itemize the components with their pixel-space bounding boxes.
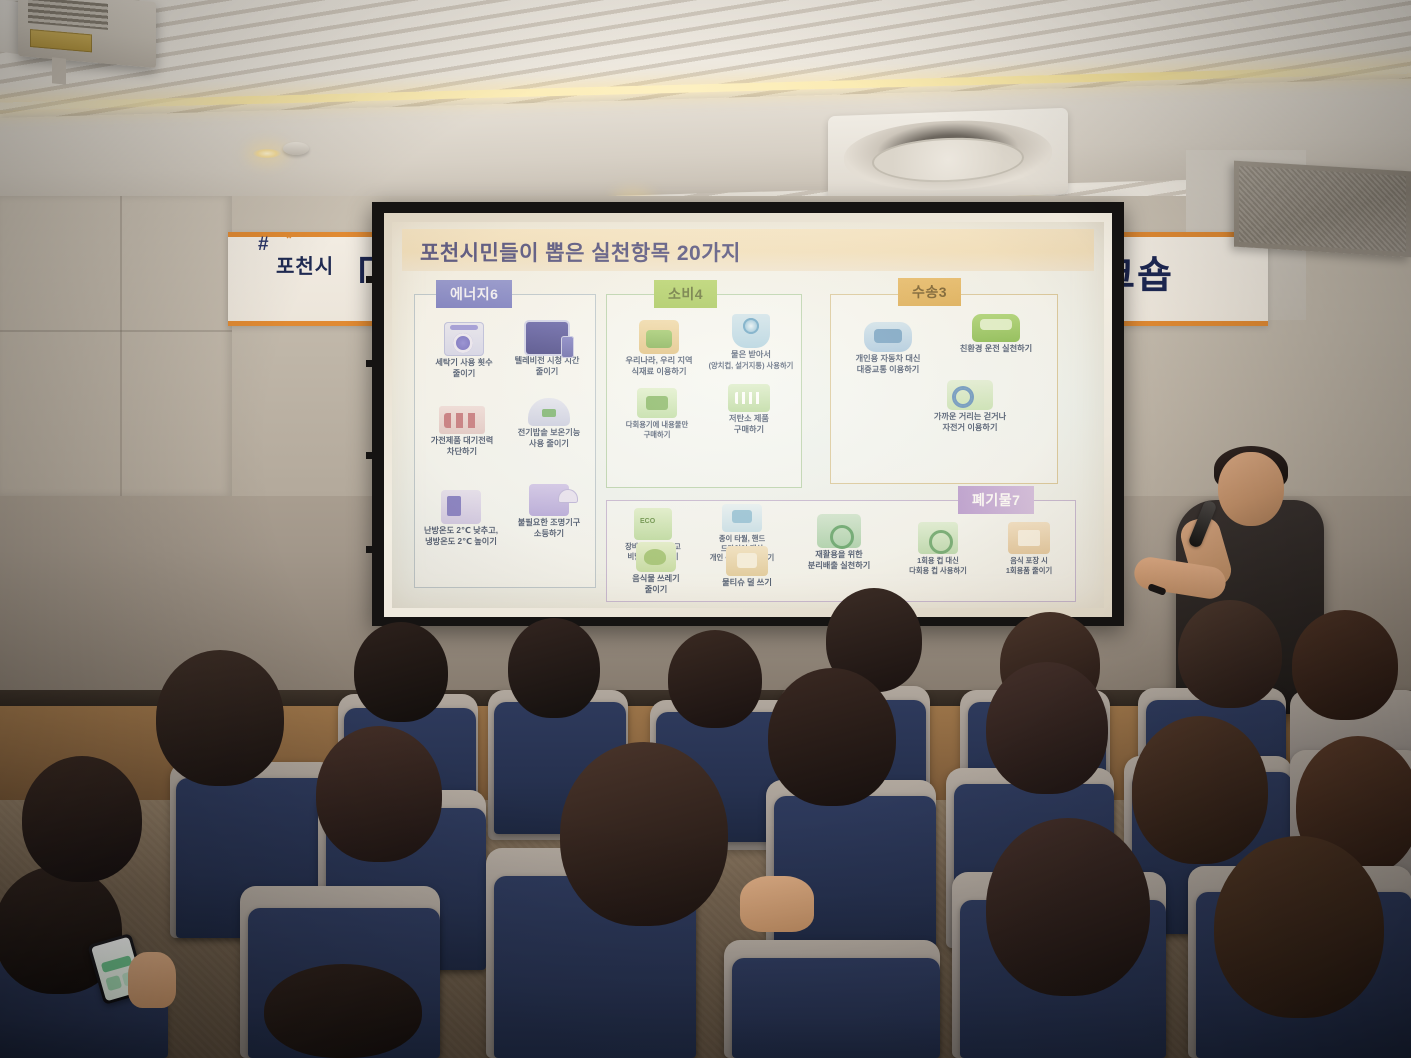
presentation-slide: 포천시민들이 뽑은 실천항목 20가지 에너지6 세탁기 사용 횟수 줄이기 텔… [392,222,1104,608]
projection-screen-surface: 포천시민들이 뽑은 실천항목 20가지 에너지6 세탁기 사용 횟수 줄이기 텔… [384,213,1112,617]
screen-bracket [366,546,382,553]
attendee-head [156,650,284,786]
slide-item: 음식 포장 시 1회용품 줄이기 [986,522,1072,575]
local-produce-icon [639,320,679,354]
attendee-head [1292,610,1398,720]
attendee-head [1214,836,1384,1018]
slide-item: 전기밥솥 보온기능 사용 줄이기 [506,398,592,450]
slide-item-caption: 텔레비전 시청 시간 줄이기 [504,356,590,378]
wall-seam [0,330,232,332]
slide-item: 1회용 컵 대신 다회용 컵 사용하기 [892,522,984,575]
power-strip-icon [439,406,485,434]
attendee-head [22,756,142,882]
thermostat-icon [441,490,481,524]
attendee-head [668,630,762,728]
slide-item: 재활용을 위한 분리배출 실천하기 [792,514,886,572]
food-packaging-icon [1008,522,1050,554]
rice-cooker-icon [528,398,570,426]
screen-bracket [366,360,382,367]
slide-item-caption: 다회용기에 내용물만 구매하기 [612,420,702,439]
slide-item-caption-sub: (양치컵, 설거지통) 사용하기 [704,361,798,371]
slide-item-caption: 가까운 거리는 걷거나 자전거 이용하기 [916,412,1024,434]
slide-item: 불필요한 조명기구 소등하기 [506,484,592,540]
lamp-icon [529,484,569,516]
section-badge-energy: 에너지6 [436,280,512,308]
food-waste-icon [636,542,676,572]
wet-wipe-icon [726,546,768,576]
attendee-head [560,742,728,926]
attendee-vest [732,958,940,1058]
attendee-head [316,726,442,862]
slide-item: 텔레비전 시청 시간 줄이기 [504,322,590,378]
slide-item-caption: 전기밥솥 보온기능 사용 줄이기 [506,428,592,450]
slide-item-caption: 세탁기 사용 횟수 줄이기 [422,358,506,380]
water-basin-icon [732,314,770,348]
slide-item: 다회용기에 내용물만 구매하기 [612,388,702,439]
slide-item: 개인용 자동차 대신 대중교통 이용하기 [840,322,936,376]
attendee-hand [128,952,176,1008]
slide-item: 물티슈 덜 쓰기 [704,546,790,589]
slide-item: 가까운 거리는 걷거나 자전거 이용하기 [916,380,1024,434]
reusable-cup-icon [918,522,958,554]
attendee-head [986,662,1108,794]
slide-item-caption: 물은 받아서 [704,350,798,361]
ceiling-ac-diffuser [828,108,1068,202]
slide-item: 세탁기 사용 횟수 줄이기 [422,322,506,380]
section-badge-consumption: 소비4 [654,280,717,308]
slide-item: 가전제품 대기전력 차단하기 [418,406,506,458]
slide-item-caption: 음식물 쓰레기 줄이기 [614,574,698,596]
slide-item: 우리나라, 우리 지역 식재료 이용하기 [614,320,704,378]
poncheon-logo-text: 포천시 [276,250,334,279]
slide-item-caption: 가전제품 대기전력 차단하기 [418,436,506,458]
low-carbon-product-icon [728,384,770,412]
shopping-basket-icon [634,508,672,540]
slide-item-caption: 재활용을 위한 분리배출 실천하기 [792,550,886,572]
slide-item-caption: 1회용 컵 대신 다회용 컵 사용하기 [892,556,984,575]
section-badge-waste: 폐기물7 [958,486,1034,514]
slide-item-caption: 친환경 운전 실천하기 [944,344,1048,355]
slide-item-caption: 음식 포장 시 1회용품 줄이기 [986,556,1072,575]
attendee-head [1132,716,1268,864]
attendee-head [986,818,1150,996]
poncheon-star-icon: * [286,230,292,247]
presentation-photo: # * 포천시 「힘 크숍 터 포천시민들이 뽑은 실천항목 20가지 에너지6… [0,0,1411,1058]
attendee-head [264,964,422,1058]
presenter-head [1218,452,1284,526]
recycling-bin-icon [817,514,861,548]
downlight-icon [252,148,282,159]
slide-item: 음식물 쓰레기 줄이기 [614,542,698,596]
slide-item-caption: 물티슈 덜 쓰기 [704,578,790,589]
ceiling-projector [18,0,156,68]
slide-item-caption: 우리나라, 우리 지역 식재료 이용하기 [614,356,704,378]
smoke-detector-icon [283,142,309,155]
washing-machine-icon [444,322,484,356]
slide-item: 물은 받아서 (양치컵, 설거지통) 사용하기 [704,314,798,370]
section-badge-transport: 수송3 [898,278,961,306]
eco-car-icon [972,314,1020,342]
projector-vent [28,0,108,30]
attendee-hand [740,876,814,932]
projector-mount [52,57,66,84]
slide-item: 친환경 운전 실천하기 [944,314,1048,355]
reusable-container-icon [637,388,677,418]
projector-label [30,29,92,52]
screen-bracket [366,276,382,283]
wall-speaker [1234,161,1411,258]
slide-item: 난방온도 2℃ 낮추고, 냉방온도 2℃ 높이기 [416,490,506,548]
attendee-head [354,622,448,722]
slide-item: 저탄소 제품 구매하기 [704,384,794,436]
attendee-head [768,668,896,806]
slide-item-caption: 불필요한 조명기구 소등하기 [506,518,592,540]
public-transit-icon [864,322,912,352]
slide-item-caption: 개인용 자동차 대신 대중교통 이용하기 [840,354,936,376]
walk-bike-icon [947,380,993,410]
attendee-head [508,618,600,718]
slide-item-caption: 저탄소 제품 구매하기 [704,414,794,436]
attendee-head [1178,600,1282,708]
left-wall-panel [0,196,232,496]
slide-title: 포천시민들이 뽑은 실천항목 20가지 [420,237,741,267]
television-icon [526,322,568,354]
hand-towel-icon [722,504,762,532]
slide-item-caption: 난방온도 2℃ 낮추고, 냉방온도 2℃ 높이기 [416,526,506,548]
screen-bracket [366,452,382,459]
wall-seam [120,196,122,496]
poncheon-hash-icon: # [258,234,269,256]
